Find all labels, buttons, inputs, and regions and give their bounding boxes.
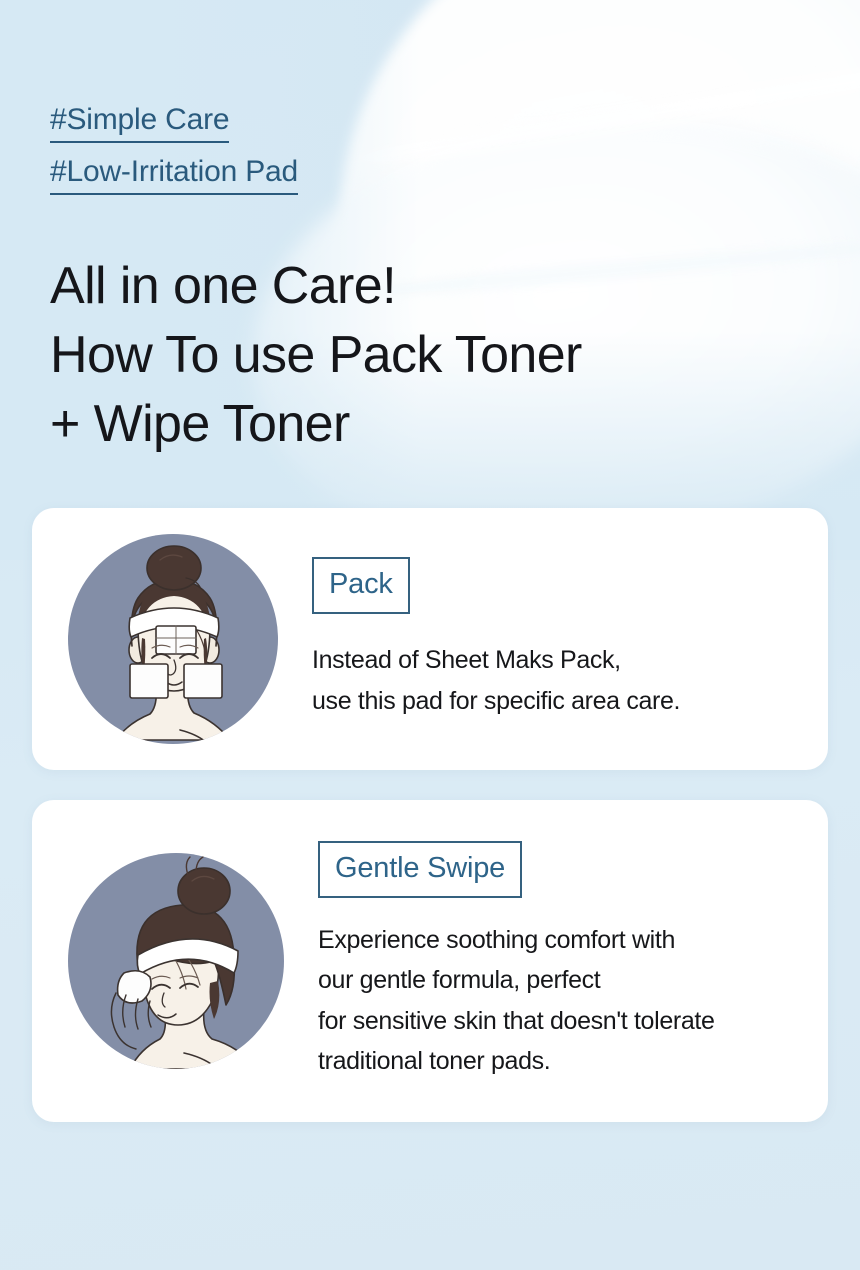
illustration-woman-wiping-cheek xyxy=(68,853,284,1069)
feature-card-gentle-swipe: Gentle Swipe Experience soothing comfort… xyxy=(32,800,828,1122)
page-title: All in one Care! How To use Pack Toner +… xyxy=(50,252,582,459)
hashtag-low-irritation-pad: #Low-Irritation Pad xyxy=(50,157,298,195)
hashtag-group: #Simple Care #Low-Irritation Pad xyxy=(50,105,298,195)
illustration-woman-with-pads-on-face xyxy=(68,534,278,744)
card-pack-description: Instead of Sheet Maks Pack, use this pad… xyxy=(312,640,680,721)
card-gentle-swipe-description: Experience soothing comfort with our gen… xyxy=(318,920,715,1082)
feature-card-pack: Pack Instead of Sheet Maks Pack, use thi… xyxy=(32,508,828,770)
badge-pack: Pack xyxy=(312,557,410,614)
badge-gentle-swipe: Gentle Swipe xyxy=(318,841,522,898)
hashtag-simple-care: #Simple Care xyxy=(50,105,229,143)
